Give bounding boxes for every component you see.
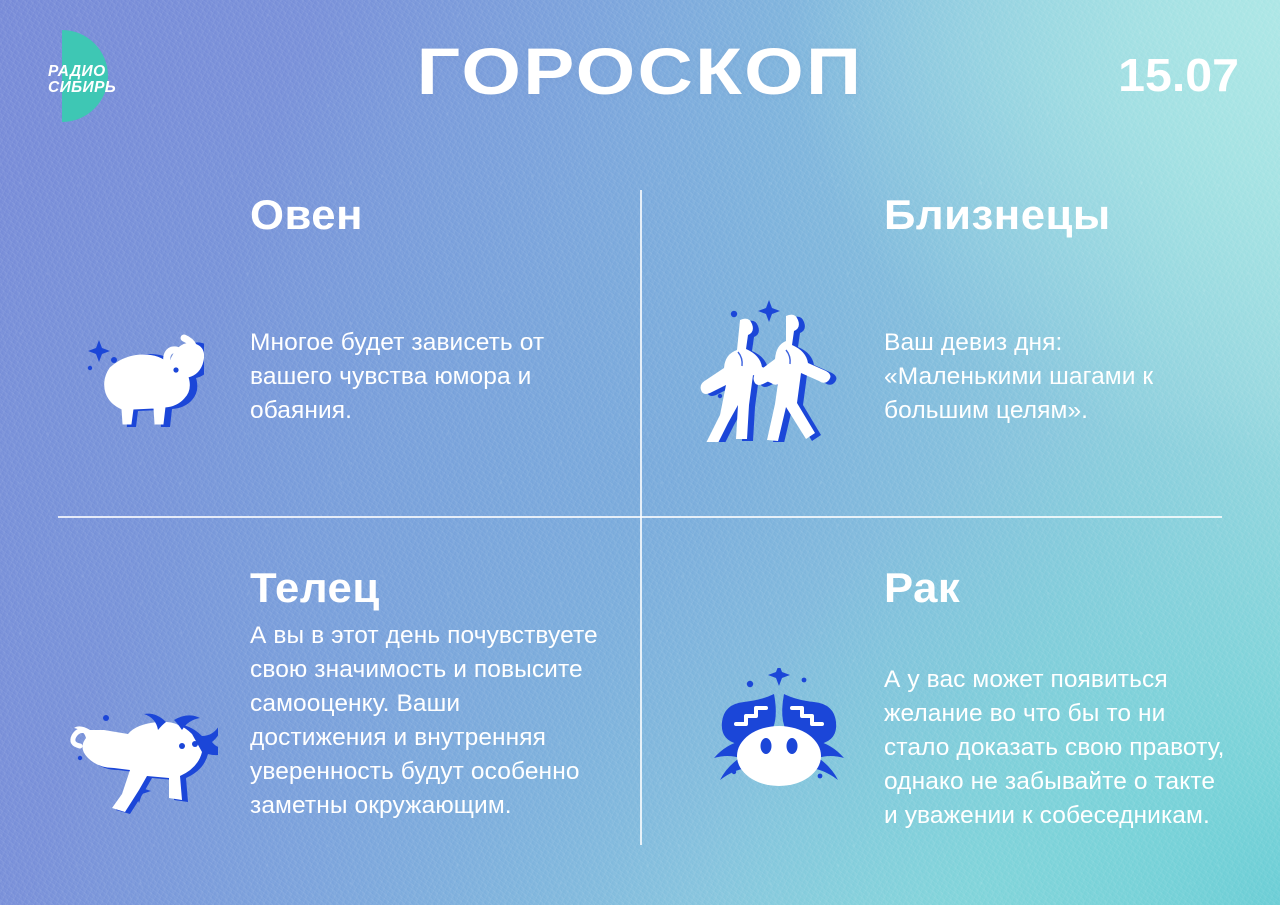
sign-block-aries: Овен Многое будет зависеть от вашего чув…	[250, 192, 590, 428]
horoscope-poster: РАДИО СИБИРЬ ГОРОСКОП 15.07 Овен Многое …	[0, 0, 1280, 905]
sign-block-gemini: Близнецы Ваш девиз дня: «Маленькими шага…	[884, 192, 1234, 428]
sign-text-aries: Многое будет зависеть от вашего чувства …	[250, 326, 576, 428]
aries-ram-icon	[72, 308, 204, 440]
sign-text-taurus: А вы в этот день почувствуете свою значи…	[250, 619, 598, 823]
date-label: 15.07	[1118, 52, 1239, 98]
sign-block-cancer: Рак А у вас может появиться желание во ч…	[884, 565, 1236, 833]
page-title: ГОРОСКОП	[0, 36, 1280, 106]
sign-text-gemini: Ваш девиз дня: «Маленькими шагами к боль…	[884, 326, 1220, 428]
sign-title-taurus: Телец	[250, 565, 616, 611]
vertical-divider	[640, 190, 642, 845]
sign-text-cancer: А у вас может появиться желание во что б…	[884, 663, 1232, 833]
sign-title-cancer: Рак	[884, 565, 1250, 611]
cancer-crab-icon	[700, 668, 858, 800]
gemini-twins-icon	[700, 300, 846, 442]
sign-block-taurus: Телец А вы в этот день почувствуете свою…	[250, 565, 602, 823]
taurus-bull-icon	[62, 692, 218, 820]
sign-title-gemini: Близнецы	[884, 192, 1248, 238]
sign-title-aries: Овен	[250, 192, 604, 238]
